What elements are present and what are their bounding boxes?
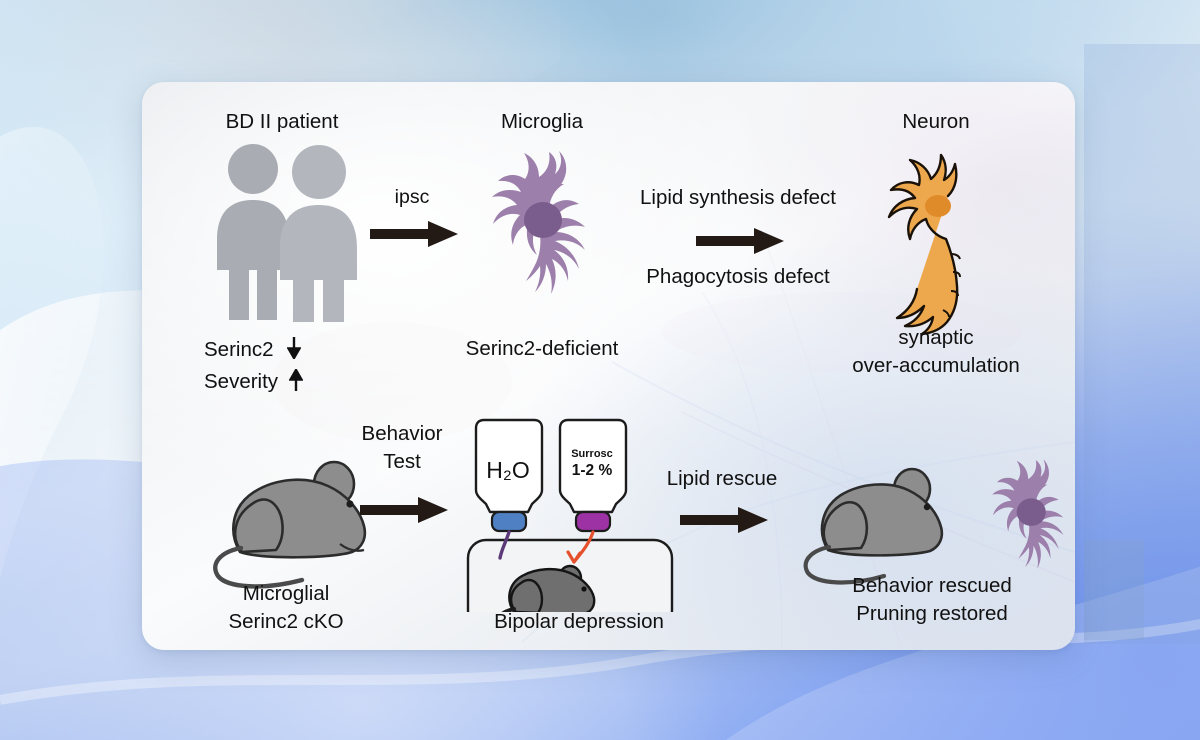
arrow-right-lipid-rescue-icon	[680, 504, 768, 536]
arrow-behavior-test-label-line1: Behavior	[362, 422, 443, 446]
microglia-cell-icon	[469, 144, 619, 314]
bd-ii-patient-icon	[197, 142, 387, 327]
patient-caption-severity: Severity	[204, 370, 278, 393]
mouse-rescued-icon	[788, 464, 973, 589]
patient-title: BD II patient	[226, 110, 339, 134]
two-bottle-test-caption: Bipolar depression	[494, 610, 664, 634]
mouse-cko-icon	[194, 456, 404, 596]
arrow-lipid-rescue-label: Lipid rescue	[667, 467, 778, 491]
arrow-phagocytosis-label: Phagocytosis defect	[646, 265, 829, 289]
arrow-right-ipsc-icon	[370, 218, 458, 250]
microglia-rescued-icon	[972, 454, 1075, 584]
neuron-cell-icon	[852, 144, 1022, 344]
neuron-caption-line2: over-accumulation	[852, 354, 1020, 378]
arrow-right-defect-icon	[696, 225, 784, 257]
rescue-caption-line1: Behavior rescued	[852, 574, 1012, 598]
two-bottle-test-icon	[462, 412, 692, 612]
arrow-ipsc-label: ipsc	[395, 186, 430, 209]
bottle-sucrose-label-line2: 1-2 %	[572, 462, 613, 480]
arrow-down-icon	[287, 337, 301, 359]
arrow-lipid-synthesis-label: Lipid synthesis defect	[640, 186, 836, 210]
patient-caption-serinc2-row: Serinc2	[204, 337, 301, 362]
neuron-title: Neuron	[902, 110, 969, 134]
microglia-title: Microglia	[501, 110, 583, 134]
patient-caption-serinc2: Serinc2	[204, 338, 274, 361]
mouse-cko-caption-line2: Serinc2 cKO	[228, 610, 343, 634]
mouse-cko-caption-line1: Microglial	[243, 582, 330, 606]
rescue-caption-line2: Pruning restored	[856, 602, 1008, 626]
bottle-water-label: H₂O	[486, 457, 529, 484]
figure-panel: BD II patient Serinc2 Severity ipsc Micr…	[142, 82, 1075, 650]
bottle-sucrose-label-line1: Surrosc	[571, 448, 613, 461]
arrow-behavior-test-label-line2: Test	[383, 450, 421, 474]
patient-caption-severity-row: Severity	[204, 369, 303, 394]
neuron-caption-line1: synaptic	[898, 326, 973, 350]
arrow-up-icon	[289, 369, 303, 391]
arrow-right-behavior-test-icon	[360, 494, 448, 526]
microglia-caption: Serinc2-deficient	[466, 337, 619, 361]
